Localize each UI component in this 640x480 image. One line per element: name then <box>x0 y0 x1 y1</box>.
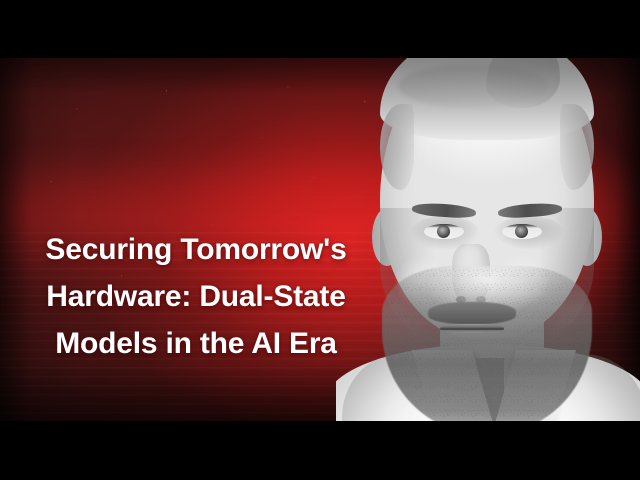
portrait-eye-left <box>424 224 464 239</box>
letterbox-bar-bottom <box>0 421 640 480</box>
letterbox-bar-top <box>0 0 640 58</box>
portrait-eyelid-right <box>502 224 542 228</box>
video-frame: Securing Tomorrow's Hardware: Dual-State… <box>0 58 640 421</box>
video-thumbnail: Securing Tomorrow's Hardware: Dual-State… <box>0 0 640 480</box>
portrait-moustache <box>428 302 516 324</box>
portrait-beard-texture <box>382 266 592 421</box>
portrait-image <box>336 58 640 421</box>
title-line-1: Securing Tomorrow's <box>22 226 370 273</box>
title-line-2: Hardware: Dual-State <box>22 273 370 320</box>
portrait-eye-right <box>502 224 542 239</box>
title-line-3: Models in the AI Era <box>22 320 370 367</box>
portrait-mouth-line <box>440 328 504 330</box>
portrait-temple-left <box>380 104 414 190</box>
thumbnail-title: Securing Tomorrow's Hardware: Dual-State… <box>22 226 370 367</box>
portrait-eyelid-left <box>424 224 464 228</box>
